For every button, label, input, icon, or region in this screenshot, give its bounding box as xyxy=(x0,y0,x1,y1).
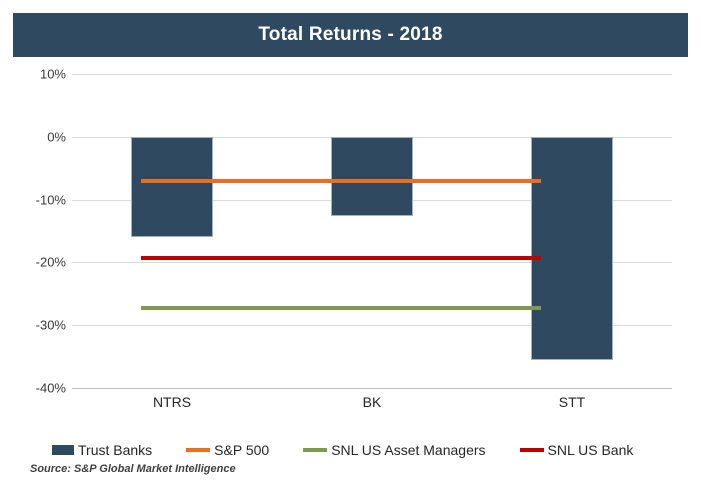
reference-line-snl-us-bank xyxy=(141,256,541,260)
legend-swatch-icon xyxy=(52,445,74,455)
source-note: Source: S&P Global Market Intelligence xyxy=(30,463,236,475)
y-axis: 10%0%-10%-20%-30%-40% xyxy=(0,74,66,388)
y-axis-tick-label: -20% xyxy=(10,255,66,270)
legend-label: SNL US Asset Managers xyxy=(331,442,485,458)
y-axis-tick-label: -40% xyxy=(10,381,66,396)
bar-bk xyxy=(331,137,413,216)
plot-wrapper: 10%0%-10%-20%-30%-40% NTRSBKSTT xyxy=(0,0,701,420)
plot-area xyxy=(72,74,672,388)
y-axis-tick-label: -30% xyxy=(10,318,66,333)
legend-item-snl-us-bank[interactable]: SNL US Bank xyxy=(520,442,634,458)
reference-line-snl-us-asset-managers xyxy=(141,306,541,310)
legend-item-trust-banks[interactable]: Trust Banks xyxy=(52,442,152,458)
x-axis-tick-label: BK xyxy=(363,394,382,410)
y-axis-tick-label: 0% xyxy=(10,129,66,144)
chart-legend: Trust BanksS&P 500SNL US Asset ManagersS… xyxy=(52,440,672,460)
bar-stt xyxy=(531,137,613,360)
gridline xyxy=(72,388,672,389)
legend-label: SNL US Bank xyxy=(548,442,634,458)
legend-label: Trust Banks xyxy=(78,442,152,458)
y-axis-tick-label: 10% xyxy=(10,67,66,82)
legend-item-s-p-500[interactable]: S&P 500 xyxy=(186,442,269,458)
x-axis-tick-label: STT xyxy=(559,394,585,410)
y-axis-tick-label: -10% xyxy=(10,192,66,207)
legend-label: S&P 500 xyxy=(214,442,269,458)
gridline xyxy=(72,74,672,75)
legend-swatch-icon xyxy=(303,448,327,452)
legend-item-snl-us-asset-managers[interactable]: SNL US Asset Managers xyxy=(303,442,485,458)
legend-swatch-icon xyxy=(520,448,544,452)
legend-swatch-icon xyxy=(186,448,210,452)
x-axis-tick-label: NTRS xyxy=(153,394,191,410)
reference-line-s-p-500 xyxy=(141,179,541,183)
bar-ntrs xyxy=(131,137,213,237)
chart-container: Total Returns - 2018 10%0%-10%-20%-30%-4… xyxy=(0,0,701,480)
